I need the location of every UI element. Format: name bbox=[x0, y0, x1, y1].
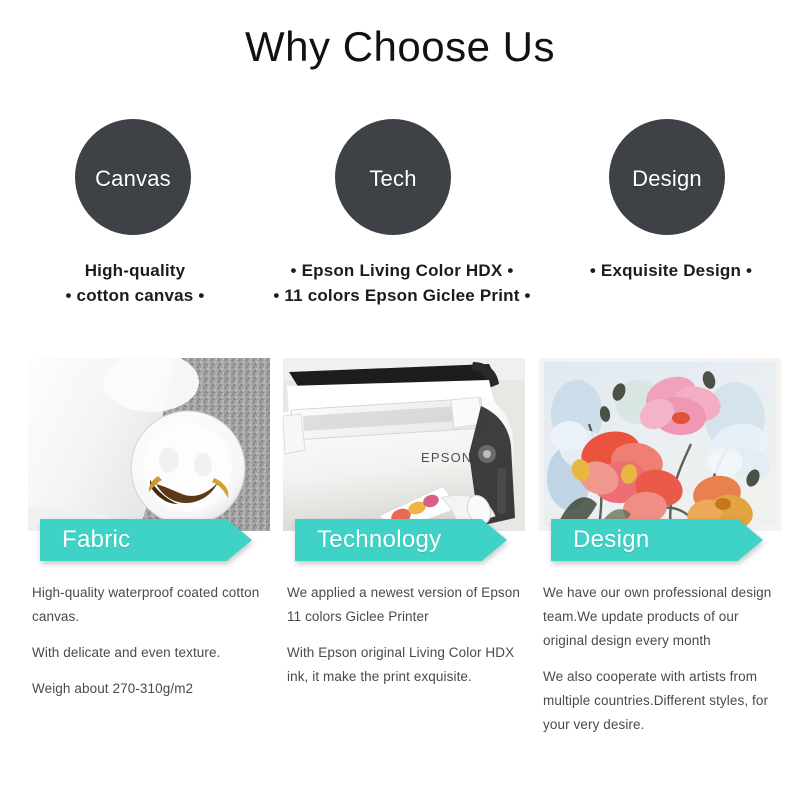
photo-printer: EPSON bbox=[283, 358, 525, 531]
design-para-2: We also cooperate with artists from mult… bbox=[543, 665, 781, 737]
caption-canvas: High-quality • cotton canvas • bbox=[20, 258, 250, 308]
badge-tech-label: Tech bbox=[369, 166, 416, 192]
banner-fabric-label: Fabric bbox=[62, 519, 130, 561]
body-design: We have our own professional design team… bbox=[543, 581, 781, 737]
caption-design: • Exquisite Design • bbox=[556, 258, 786, 283]
column-design: Design We have our own professional desi… bbox=[539, 358, 781, 737]
caption-canvas-line1: High-quality bbox=[20, 258, 250, 283]
caption-design-line1: • Exquisite Design • bbox=[556, 258, 786, 283]
fabric-para-2: With delicate and even texture. bbox=[32, 641, 270, 665]
technology-para-2: With Epson original Living Color HDX ink… bbox=[287, 641, 525, 689]
photo-fabric bbox=[28, 358, 270, 531]
svg-text:EPSON: EPSON bbox=[421, 450, 473, 465]
badge-tech: Tech bbox=[335, 119, 451, 235]
banner-fabric: Fabric bbox=[40, 519, 252, 563]
banner-design-label: Design bbox=[573, 519, 650, 561]
design-para-1: We have our own professional design team… bbox=[543, 581, 781, 653]
badge-canvas-label: Canvas bbox=[95, 166, 171, 192]
caption-canvas-line2: • cotton canvas • bbox=[20, 283, 250, 308]
fabric-para-3: Weigh about 270-310g/m2 bbox=[32, 677, 270, 701]
badge-design: Design bbox=[609, 119, 725, 235]
badge-row: Canvas Tech Design bbox=[0, 119, 800, 237]
badge-design-label: Design bbox=[632, 166, 702, 192]
caption-tech-line1: • Epson Living Color HDX • bbox=[252, 258, 552, 283]
banner-technology-label: Technology bbox=[317, 519, 441, 561]
column-fabric: Fabric High-quality waterproof coated co… bbox=[28, 358, 270, 701]
fabric-para-1: High-quality waterproof coated cotton ca… bbox=[32, 581, 270, 629]
promo-page: Why Choose Us Canvas Tech Design High-qu… bbox=[0, 0, 800, 800]
body-fabric: High-quality waterproof coated cotton ca… bbox=[32, 581, 270, 701]
caption-row: High-quality • cotton canvas • • Epson L… bbox=[0, 258, 800, 333]
caption-tech: • Epson Living Color HDX • • 11 colors E… bbox=[252, 258, 552, 308]
column-technology: EPSON Technology bbox=[283, 358, 525, 689]
badge-canvas: Canvas bbox=[75, 119, 191, 235]
photo-artwork bbox=[539, 358, 781, 531]
technology-para-1: We applied a newest version of Epson 11 … bbox=[287, 581, 525, 629]
banner-design: Design bbox=[551, 519, 763, 563]
body-technology: We applied a newest version of Epson 11 … bbox=[287, 581, 525, 689]
banner-technology: Technology bbox=[295, 519, 507, 563]
page-title: Why Choose Us bbox=[0, 24, 800, 70]
caption-tech-line2: • 11 colors Epson Giclee Print • bbox=[252, 283, 552, 308]
